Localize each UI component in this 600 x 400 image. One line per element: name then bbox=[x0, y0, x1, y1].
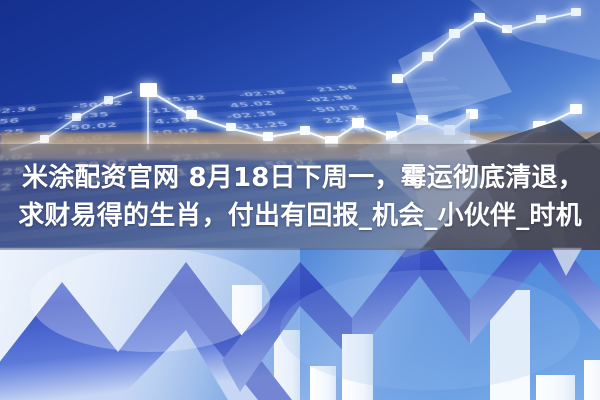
headline-line-2: 求财易得的生肖，付出有回报_机会_小伙伴_时机 bbox=[18, 199, 582, 235]
headline-block: 米涂配资官网 8月18日下周一，霉运彻底清退， 求财易得的生肖，付出有回报_机会… bbox=[0, 150, 600, 246]
banner-image: -15.25-02.36-50.02-25.32-02.3621.56 -50.… bbox=[0, 0, 600, 400]
headline-line-1: 米涂配资官网 8月18日下周一，霉运彻底清退， bbox=[16, 161, 584, 197]
